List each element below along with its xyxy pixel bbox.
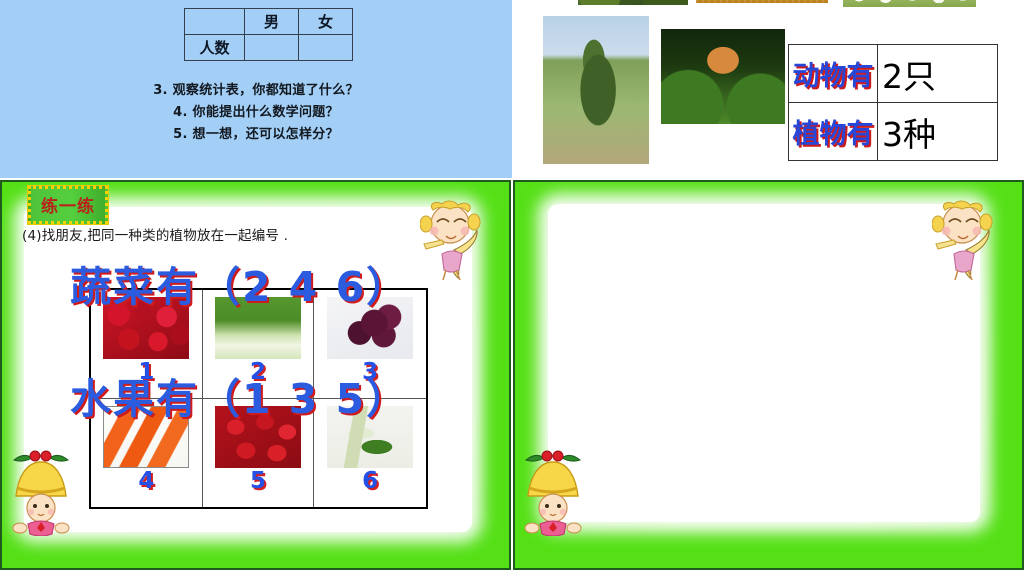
content-card-right	[548, 204, 980, 522]
table-row: 动物有 2只	[789, 45, 998, 103]
cell-r1c2	[299, 35, 353, 61]
wavy-bottom-decoration	[515, 530, 1022, 556]
fairy-trumpet-icon	[932, 198, 998, 284]
jungle-thumb-image	[578, 0, 688, 5]
panel-top-right: 动物有 2只 植物有 3种	[513, 0, 1024, 179]
animal-value: 2只	[878, 45, 998, 103]
fairy-trumpet-icon	[420, 198, 486, 284]
bottom-white-strip	[0, 571, 1024, 577]
slide-canvas: 男 女 人数 3. 观察统计表，你都知道了什么？ 4. 你能提出什么数学问题？ …	[0, 0, 1024, 577]
instruction-text: (4)找朋友,把同一种类的植物放在一起编号 .	[22, 224, 288, 244]
wheat-thumb-image	[696, 0, 828, 3]
cell-r0c2: 女	[299, 9, 353, 35]
pine-tree-photo-image	[543, 16, 649, 164]
question-item-3: 3. 观察统计表，你都知道了什么？	[0, 80, 512, 102]
animal-plant-count-table: 动物有 2只 植物有 3种	[788, 44, 998, 161]
cell-number-4: 4	[138, 469, 154, 493]
cell-r1c0: 人数	[185, 35, 245, 61]
question-item-4: 4. 你能提出什么数学问题？	[0, 102, 512, 124]
animal-label: 动物有	[789, 45, 878, 103]
table-row: 人数	[185, 35, 353, 61]
gender-count-table: 男 女 人数	[184, 8, 353, 61]
panel-top-left: 男 女 人数 3. 观察统计表，你都知道了什么？ 4. 你能提出什么数学问题？ …	[0, 0, 512, 179]
cell-number-5: 5	[250, 469, 266, 493]
answer-vegetables: 蔬菜有（2 4 6）	[70, 253, 409, 313]
answer-fruits: 水果有（1 3 5）	[70, 365, 409, 425]
table-row: 男 女	[185, 9, 353, 35]
tiger-photo-image	[661, 29, 785, 124]
practice-badge: 练一练	[28, 186, 108, 224]
wavy-bottom-decoration	[2, 530, 509, 556]
table-row: 植物有 3种	[789, 103, 998, 161]
bell-hat-kid-icon	[520, 444, 586, 536]
question-list: 3. 观察统计表，你都知道了什么？ 4. 你能提出什么数学问题？ 5. 想一想，…	[0, 80, 512, 146]
plant-value: 3种	[878, 103, 998, 161]
cell-r1c1	[245, 35, 299, 61]
white-flowers-thumb-image	[843, 0, 976, 7]
cell-r0c0	[185, 9, 245, 35]
plant-label: 植物有	[789, 103, 878, 161]
cell-number-6: 6	[362, 469, 378, 493]
question-item-5: 5. 想一想，还可以怎样分？	[0, 124, 512, 146]
bell-hat-kid-icon	[8, 444, 74, 536]
cell-r0c1: 男	[245, 9, 299, 35]
